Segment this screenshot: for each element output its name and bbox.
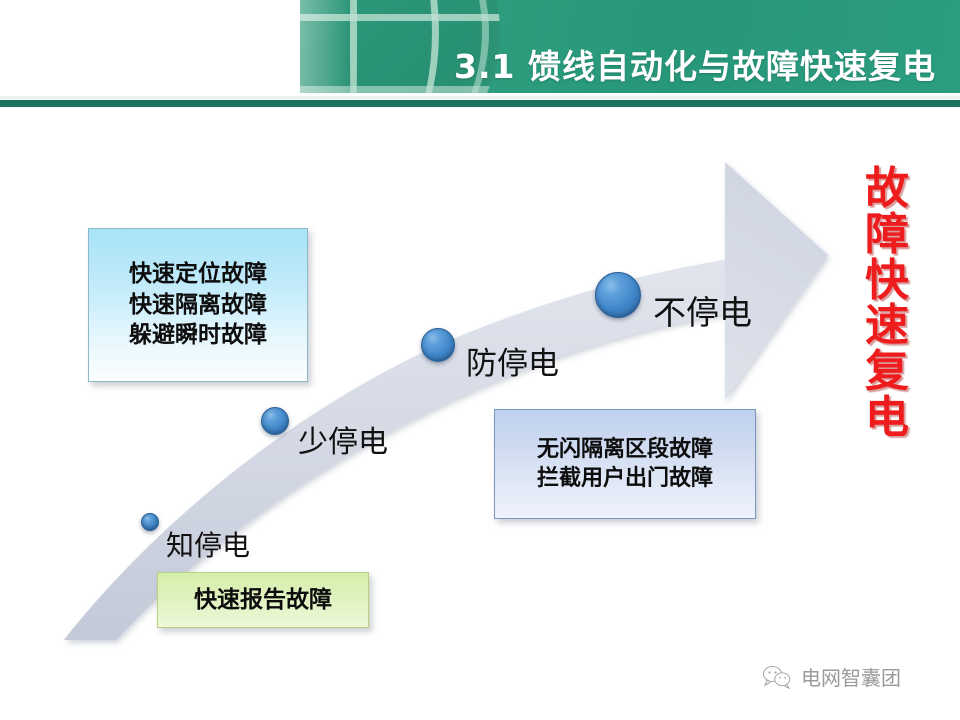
vertical-char-1: 故: [856, 166, 918, 212]
slide-header: 3.1 馈线自动化与故障快速复电: [0, 0, 960, 93]
vertical-char-4: 速: [856, 303, 918, 349]
vertical-char-3: 快: [856, 258, 918, 304]
stage-sphere-1[interactable]: [141, 513, 159, 531]
callout-blue-line-1: 无闪隔离区段故障: [537, 435, 713, 464]
stage-sphere-2[interactable]: [261, 407, 289, 435]
stage-label-1: 知停电: [166, 524, 250, 564]
stage-label-3: 防停电: [466, 338, 559, 383]
callout-blue-line-2: 拦截用户出门故障: [537, 464, 713, 493]
stage-label-4: 不停电: [653, 286, 752, 334]
watermark: 电网智囊团: [762, 662, 901, 691]
curved-up-arrow: [0, 100, 960, 720]
callout-box-green[interactable]: 快速报告故障: [157, 572, 369, 628]
callout-box-cyan[interactable]: 快速定位故障 快速隔离故障 躲避瞬时故障: [88, 228, 308, 382]
callout-cyan-line-1: 快速定位故障: [129, 259, 267, 290]
slide-canvas: 3.1 馈线自动化与故障快速复电: [0, 0, 960, 720]
vertical-char-5: 复: [856, 349, 918, 395]
page-title: 3.1 馈线自动化与故障快速复电: [454, 40, 936, 88]
callout-cyan-line-2: 快速隔离故障: [129, 290, 267, 321]
stage-sphere-4[interactable]: [595, 272, 641, 318]
vertical-char-2: 障: [856, 212, 918, 258]
watermark-text: 电网智囊团: [801, 662, 901, 691]
callout-cyan-line-3: 躲避瞬时故障: [129, 320, 267, 351]
header-rule-highlight: [0, 96, 960, 99]
vertical-char-6: 电: [856, 395, 918, 441]
callout-box-blue[interactable]: 无闪隔离区段故障 拦截用户出门故障: [494, 409, 756, 519]
stage-label-2: 少停电: [298, 417, 388, 461]
wechat-icon: [762, 665, 792, 689]
stage-sphere-3[interactable]: [421, 328, 455, 362]
header-fade-mask: [150, 0, 350, 93]
vertical-emphasis-text: 故 障 快 速 复 电: [856, 166, 918, 441]
callout-green-line-1: 快速报告故障: [194, 585, 332, 616]
